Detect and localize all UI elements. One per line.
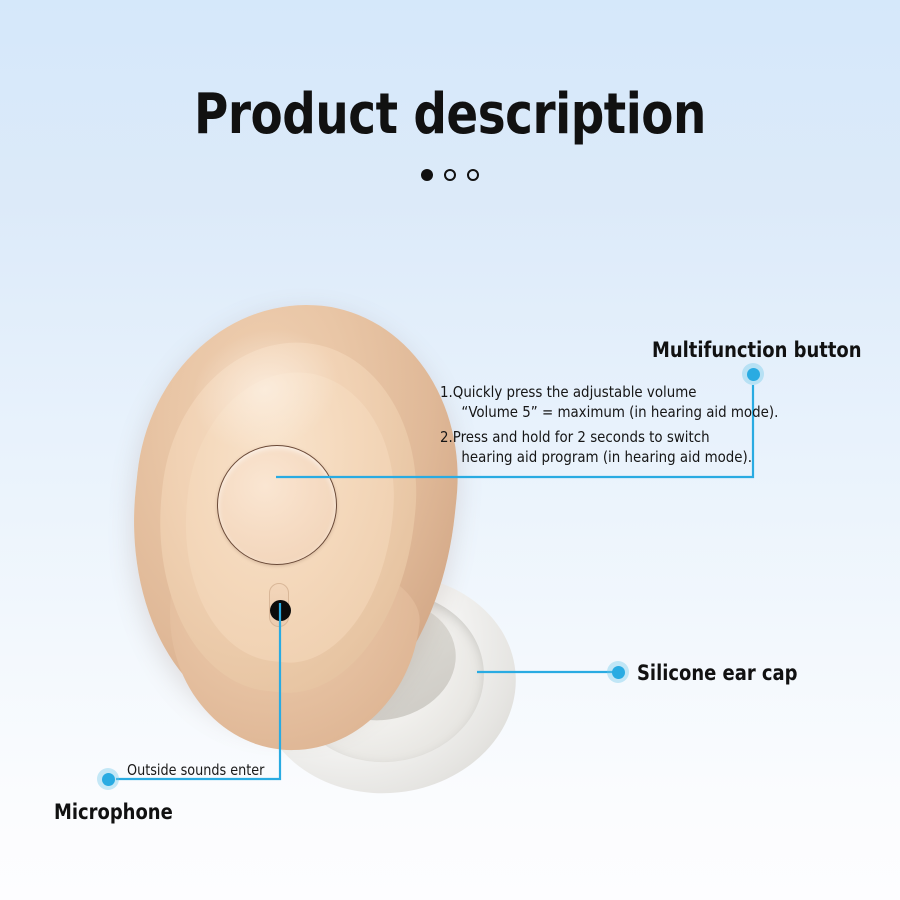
carousel-dot-3[interactable] xyxy=(467,169,479,181)
callout-heading-microphone: Microphone xyxy=(54,800,173,824)
callout-heading-multifunction-button: Multifunction button xyxy=(652,338,862,362)
list-item-1-line-1: Quickly press the adjustable volume xyxy=(453,382,779,402)
product-image xyxy=(130,300,560,810)
list-item-1-line-2: “Volume 5” = maximum (in hearing aid mod… xyxy=(453,402,779,422)
multifunction-button-surface[interactable] xyxy=(217,445,337,565)
carousel-dot-2[interactable] xyxy=(444,169,456,181)
multifunction-instruction-item-2: 2. Press and hold for 2 seconds to switc… xyxy=(440,427,738,467)
callout-heading-silicone-ear-cap: Silicone ear cap xyxy=(637,661,798,685)
multifunction-instruction-item-1: 1. Quickly press the adjustable volume “… xyxy=(440,382,738,422)
list-item-2-line-2: hearing aid program (in hearing aid mode… xyxy=(453,447,752,467)
multifunction-instruction-list: 1. Quickly press the adjustable volume “… xyxy=(440,382,750,472)
microphone-hole xyxy=(270,600,291,621)
marker-silicone-ear-cap[interactable] xyxy=(607,661,629,683)
list-item-2-line-1: Press and hold for 2 seconds to switch xyxy=(453,427,752,447)
list-number-1: 1. xyxy=(440,382,453,422)
page-title: Product description xyxy=(32,82,869,147)
carousel-dot-1[interactable] xyxy=(421,169,433,181)
marker-microphone[interactable] xyxy=(97,768,119,790)
list-number-2: 2. xyxy=(440,427,453,467)
carousel-dots[interactable] xyxy=(0,169,900,181)
callout-sub-outside-sounds-enter: Outside sounds enter xyxy=(127,761,264,779)
product-description-slide: Product description Multifunction button xyxy=(0,0,900,900)
